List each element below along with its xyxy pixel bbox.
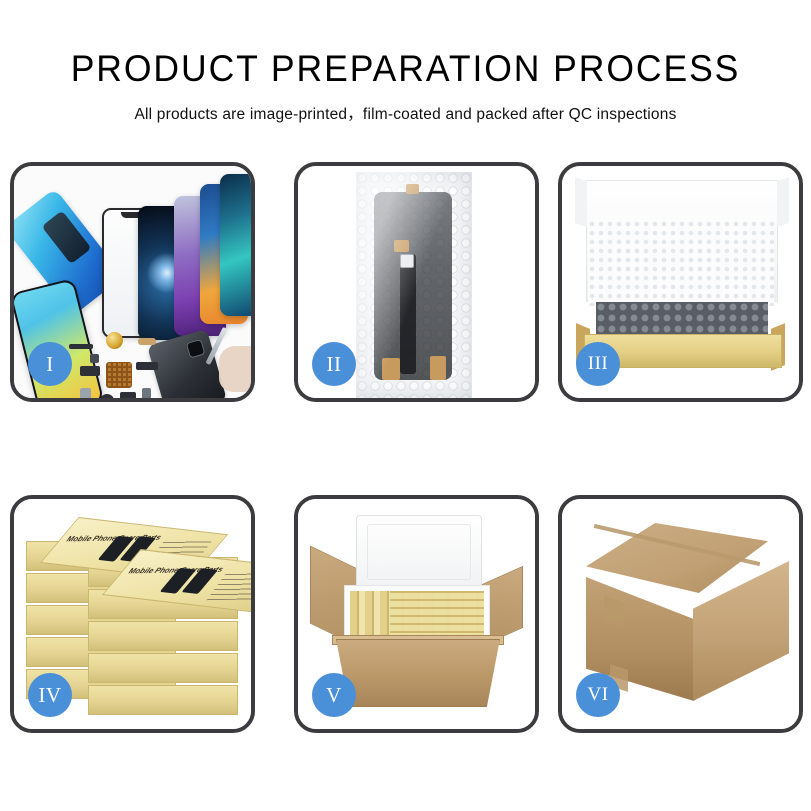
step-badge-1: I [28, 342, 72, 386]
stacked-box [88, 653, 238, 683]
step-badge-4: IV [28, 673, 72, 717]
part-graphic [69, 344, 93, 349]
gold-boxes-inside-graphic [390, 591, 484, 639]
step-panel-1: I [10, 162, 255, 402]
part-graphic [80, 366, 100, 376]
step-panel-6: VI [558, 495, 803, 733]
process-steps-grid: I II [10, 162, 803, 737]
page-title: PRODUCT PREPARATION PROCESS [16, 50, 795, 87]
part-graphic [138, 338, 156, 345]
foam-lid-graphic [356, 515, 482, 591]
chip-component-graphic [106, 362, 132, 388]
bubble-wrap-bag-graphic [356, 172, 472, 398]
page-header: PRODUCT PREPARATION PROCESS All products… [0, 0, 811, 124]
carton-body-graphic [336, 639, 500, 707]
step-panel-2: II [294, 162, 539, 402]
hand-graphic [219, 346, 251, 392]
page-subtitle: All products are image-printed，film-coat… [0, 102, 811, 124]
product-preparation-process-page: PRODUCT PREPARATION PROCESS All products… [0, 0, 811, 811]
step-panel-5: V [294, 495, 539, 733]
gloss-overlay [356, 172, 472, 398]
part-graphic [120, 392, 136, 398]
step-badge-3: III [576, 342, 620, 386]
step-badge-2: II [312, 342, 356, 386]
step-badge-6: VI [576, 673, 620, 717]
part-graphic [142, 388, 151, 398]
part-graphic [80, 388, 91, 398]
part-graphic [136, 362, 158, 370]
step-badge-5: V [312, 673, 356, 717]
coil-component-graphic [106, 332, 123, 349]
foam-sheet-graphic [588, 220, 774, 306]
stacked-box [88, 621, 238, 651]
part-graphic [100, 394, 114, 398]
stacked-box [88, 685, 238, 715]
phone-teal-graphic [220, 174, 251, 316]
part-graphic [90, 354, 99, 363]
step-panel-3: III [558, 162, 803, 402]
step-panel-4: Mobile Phone Spare Parts Mobile Phone Sp… [10, 495, 255, 733]
